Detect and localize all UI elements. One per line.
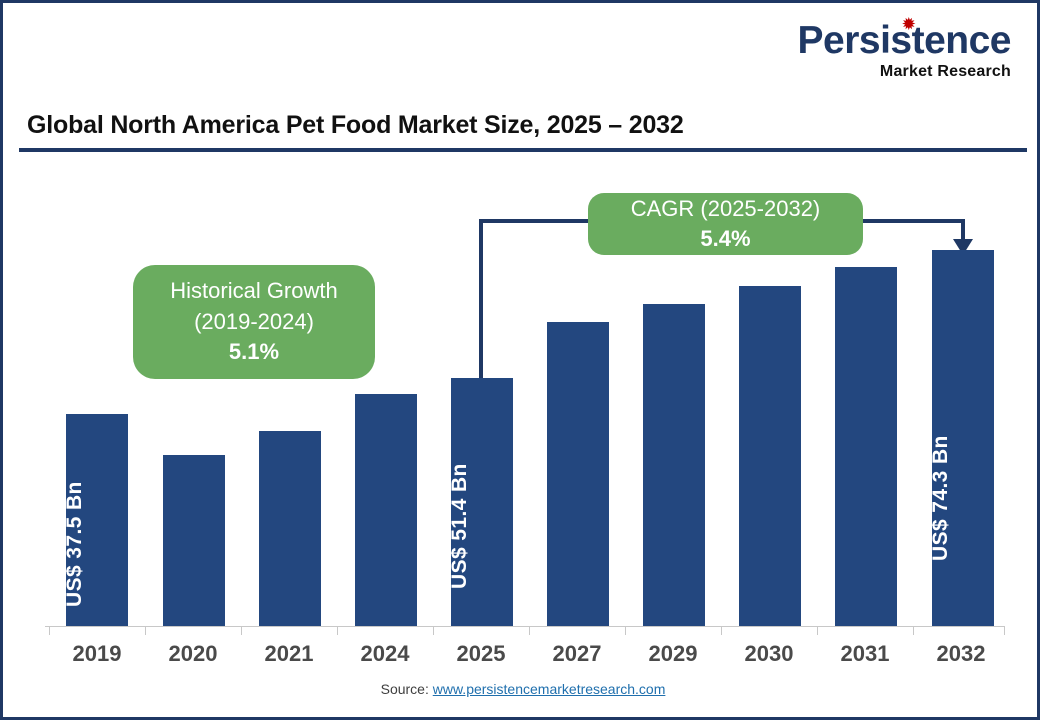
- bar-label-2019: US$ 37.5 Bn: [63, 481, 87, 607]
- bar-2024: [355, 394, 417, 626]
- x-axis-label-2029: 2029: [625, 641, 721, 667]
- source-note: Source: www.persistencemarketresearch.co…: [3, 681, 1040, 697]
- bar-2020: [163, 455, 225, 626]
- bar-label-2025: US$ 51.4 Bn: [448, 463, 472, 589]
- axis-tick: [1004, 626, 1005, 635]
- chart-page: Persistence ✹ Market Research Global Nor…: [0, 0, 1040, 720]
- callout-cagr: CAGR (2025-2032) 5.4%: [588, 193, 863, 255]
- callout-historical-line1: Historical Growth: [170, 276, 337, 306]
- bar-chart: US$ 37.5 Bn US$ 51.4 Bn US$ 74.3 Bn 2019…: [3, 3, 1040, 720]
- source-link[interactable]: www.persistencemarketresearch.com: [433, 681, 666, 697]
- x-axis-label-2025: 2025: [433, 641, 529, 667]
- axis-tick: [817, 626, 818, 635]
- x-axis-label-2032: 2032: [913, 641, 1009, 667]
- x-axis-label-2024: 2024: [337, 641, 433, 667]
- x-axis-label-2019: 2019: [49, 641, 145, 667]
- axis-tick: [721, 626, 722, 635]
- x-axis-label-2030: 2030: [721, 641, 817, 667]
- bar-label-2032: US$ 74.3 Bn: [929, 435, 953, 561]
- x-axis-label-2031: 2031: [817, 641, 913, 667]
- callout-historical-line2: (2019-2024): [194, 307, 314, 337]
- axis-tick: [913, 626, 914, 635]
- bar-2031: [835, 267, 897, 626]
- axis-tick: [625, 626, 626, 635]
- callout-cagr-value: 5.4%: [700, 224, 750, 254]
- bar-2027: [547, 322, 609, 626]
- callout-historical-growth: Historical Growth (2019-2024) 5.1%: [133, 265, 375, 379]
- callout-historical-value: 5.1%: [229, 337, 279, 367]
- axis-tick: [49, 626, 50, 635]
- axis-tick: [529, 626, 530, 635]
- bar-2021: [259, 431, 321, 626]
- axis-tick: [337, 626, 338, 635]
- x-axis-label-2027: 2027: [529, 641, 625, 667]
- bar-2029: [643, 304, 705, 626]
- axis-tick: [145, 626, 146, 635]
- x-axis-label-2020: 2020: [145, 641, 241, 667]
- source-prefix: Source:: [381, 681, 433, 697]
- bar-2030: [739, 286, 801, 626]
- axis-tick: [433, 626, 434, 635]
- axis-tick: [241, 626, 242, 635]
- x-axis-label-2021: 2021: [241, 641, 337, 667]
- callout-cagr-line1: CAGR (2025-2032): [631, 194, 821, 224]
- x-axis-line: [45, 626, 1005, 627]
